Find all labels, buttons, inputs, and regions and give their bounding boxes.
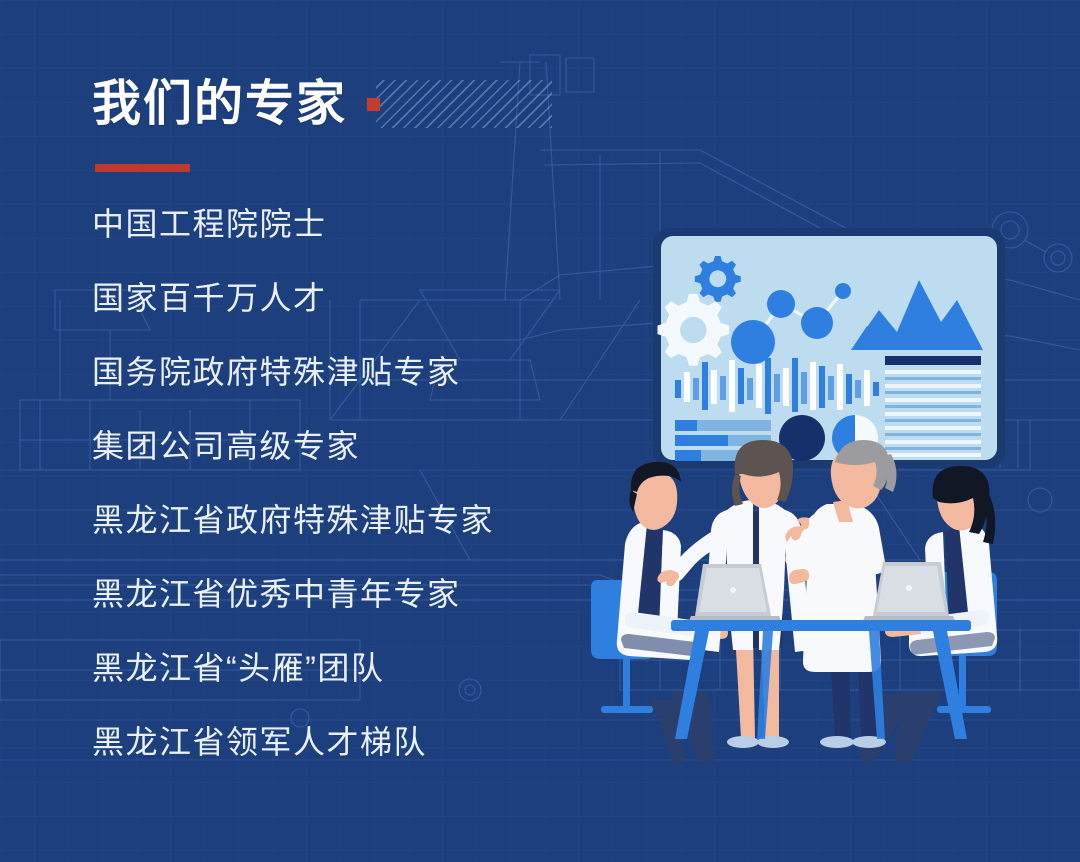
small-gear-icon: [695, 256, 741, 302]
red-underline: [95, 164, 190, 172]
progress-fill-1: [675, 420, 697, 431]
title-decoration: [367, 80, 552, 128]
title-row: 我们的专家: [92, 66, 612, 142]
list-item: 黑龙江省“头雁”团队: [92, 652, 612, 684]
list-item: 国家百千万人才: [92, 282, 612, 314]
node-medium-2: [801, 307, 833, 339]
list-item: 黑龙江省政府特殊津贴专家: [92, 504, 612, 536]
list-item: 集团公司高级专家: [92, 430, 612, 462]
meeting-scene: [591, 440, 997, 762]
experts-meeting-illustration: [585, 222, 1055, 762]
poster-canvas: 我们的专家 中国工程院院士 国家百千万人才 国务院政府特殊津贴专家 集团公司高级…: [0, 0, 1080, 862]
content-column: 我们的专家 中国工程院院士 国家百千万人才 国务院政府特殊津贴专家 集团公司高级…: [92, 66, 612, 758]
large-gear-icon: [658, 294, 730, 366]
list-item: 中国工程院院士: [92, 208, 612, 240]
node-large: [731, 320, 775, 364]
text-lines-block: [885, 356, 981, 457]
list-item: 国务院政府特殊津贴专家: [92, 356, 612, 388]
node-medium: [767, 290, 795, 318]
progress-fill-3: [675, 450, 701, 461]
expert-credentials-list: 中国工程院院士 国家百千万人才 国务院政府特殊津贴专家 集团公司高级专家 黑龙江…: [92, 208, 612, 758]
node-small: [835, 283, 851, 299]
analytics-dashboard-panel: [653, 228, 1005, 468]
page-title: 我们的专家: [92, 80, 347, 129]
progress-fill-2: [675, 435, 728, 446]
list-item: 黑龙江省领军人才梯队: [92, 726, 612, 758]
list-item: 黑龙江省优秀中青年专家: [92, 578, 612, 610]
red-square-accent-icon: [367, 98, 380, 111]
diagonal-hatch-decoration: [376, 80, 552, 128]
